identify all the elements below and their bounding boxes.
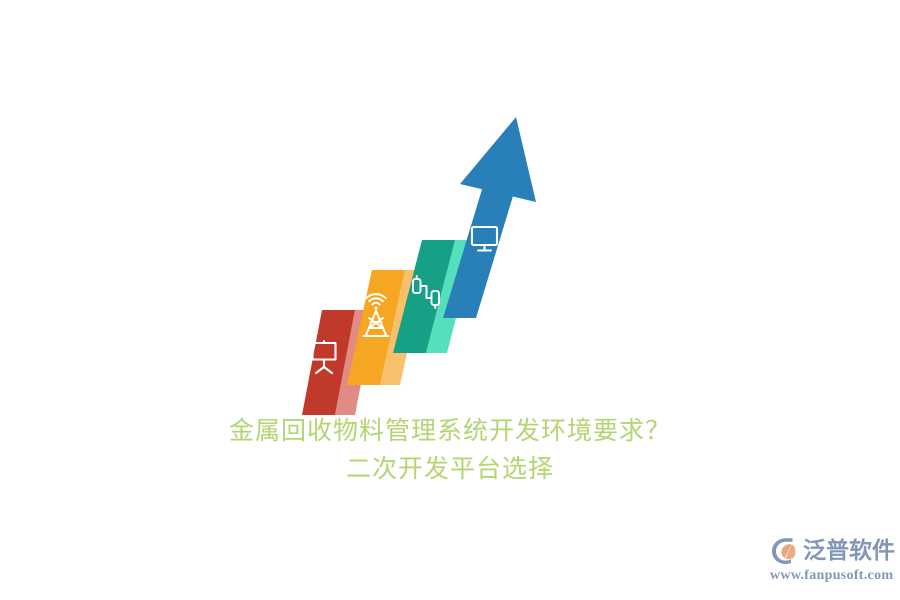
- growth-arrow-illustration: [280, 105, 570, 415]
- fanpu-swoosh-logo-icon: [770, 536, 800, 566]
- brand-url: www.fanpusoft.com: [770, 567, 892, 584]
- page-canvas: 金属回收物料管理系统开发环境要求？ 二次开发平台选择 泛普软件 www.fanp…: [0, 0, 900, 600]
- page-title-line-1: 金属回收物料管理系统开发环境要求？: [0, 412, 900, 450]
- page-title: 金属回收物料管理系统开发环境要求？ 二次开发平台选择: [0, 412, 900, 488]
- brand-name: 泛普软件: [803, 536, 895, 566]
- step-bar-4-blue-arrow: [443, 117, 536, 318]
- brand-logo[interactable]: 泛普软件 www.fanpusoft.com: [770, 536, 892, 586]
- page-title-line-2: 二次开发平台选择: [0, 450, 900, 488]
- brand-logo-row: 泛普软件: [770, 536, 892, 566]
